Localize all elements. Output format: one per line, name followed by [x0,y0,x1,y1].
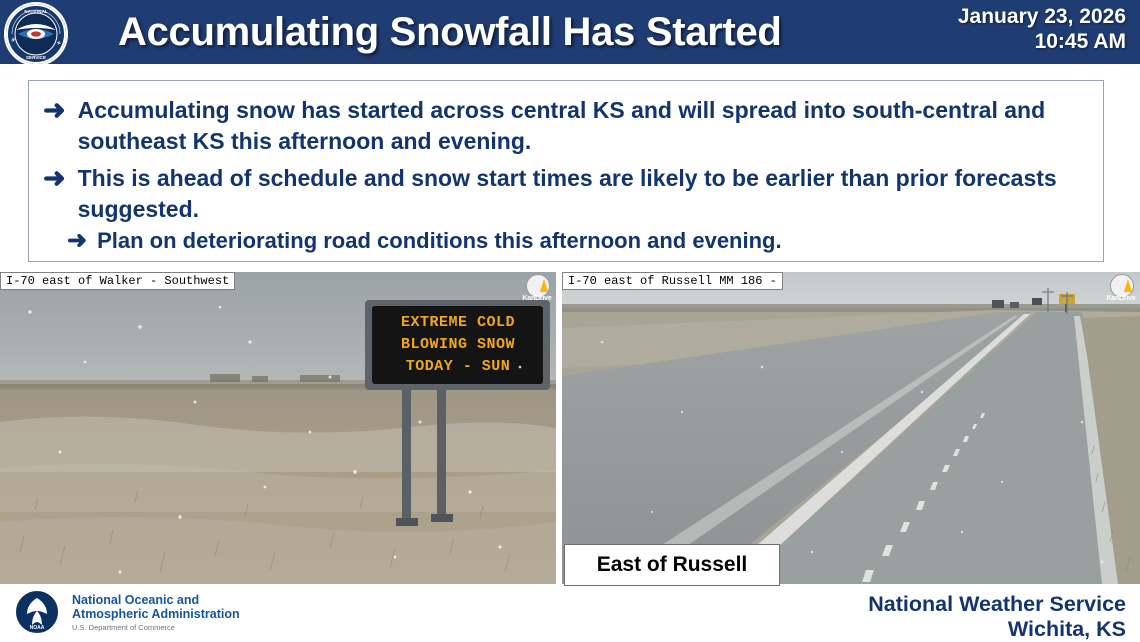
bullet-item-1: ➜ Accumulating snow has started across c… [43,95,1091,157]
slide: NATIONAL SERVICE W R Accumulating Snowfa… [0,0,1140,641]
noaa-seal-icon: NOAA [16,591,58,633]
svg-text:SERVICE: SERVICE [26,55,46,60]
noaa-line-1: National Oceanic and [72,593,240,607]
sign-line-2: BLOWING SNOW [401,334,515,356]
arrow-icon: ➜ [67,227,87,255]
sign-line-1: EXTREME COLD [401,312,515,334]
arrow-icon: ➜ [43,95,66,125]
bullet-item-2: ➜ This is ahead of schedule and snow sta… [43,163,1091,225]
kandrive-watermark-left: KanDrive [520,274,554,308]
place-tag-east-of-russell: East of Russell [564,544,780,586]
kandrive-watermark-right: KanDrive [1104,274,1138,308]
noaa-department-line: U.S. Department of Commerce [72,623,175,632]
kandrive-label: KanDrive [520,295,554,302]
bullet-item-3: ➜ Plan on deteriorating road conditions … [67,227,1091,255]
office-name: National Weather Service [868,592,1126,617]
nws-seal-icon: NATIONAL SERVICE W R [4,2,68,66]
noaa-line-2: Atmospheric Administration [72,607,240,621]
bullet-text-3: Plan on deteriorating road conditions th… [97,227,782,255]
kandrive-label: KanDrive [1104,295,1138,302]
camera-right-scene [562,272,1140,584]
slide-footer: NOAA National Oceanic and Atmospheric Ad… [0,586,1140,641]
bullet-box: ➜ Accumulating snow has started across c… [28,80,1104,262]
camera-left-overlay-label: I-70 east of Walker - Southwest [0,272,235,290]
office-location: Wichita, KS [868,617,1126,642]
noaa-agency-name: National Oceanic and Atmospheric Adminis… [72,593,240,621]
sign-line-3: TODAY - SUN [406,356,511,378]
svg-text:NOAA: NOAA [30,625,45,631]
office-identifier: National Weather Service Wichita, KS [868,592,1126,642]
header-date: January 23, 2026 [866,4,1126,29]
highway-sign-message: EXTREME COLD BLOWING SNOW TODAY - SUN [378,310,538,380]
camera-image-east-of-russell: I-70 east of Russell MM 186 - KanDrive [562,272,1140,584]
slide-header: NATIONAL SERVICE W R Accumulating Snowfa… [0,0,1140,64]
camera-right-overlay-label: I-70 east of Russell MM 186 - [562,272,783,290]
arrow-icon: ➜ [43,163,66,193]
header-time: 10:45 AM [866,29,1126,54]
camera-image-russell: EXTREME COLD BLOWING SNOW TODAY - SUN I-… [0,272,556,584]
bullet-text-1: Accumulating snow has started across cen… [78,95,1091,157]
bullet-text-2: This is ahead of schedule and snow start… [78,163,1091,225]
svg-text:NATIONAL: NATIONAL [24,9,48,14]
page-title: Accumulating Snowfall Has Started [118,2,888,62]
header-datetime: January 23, 2026 10:45 AM [866,4,1126,54]
